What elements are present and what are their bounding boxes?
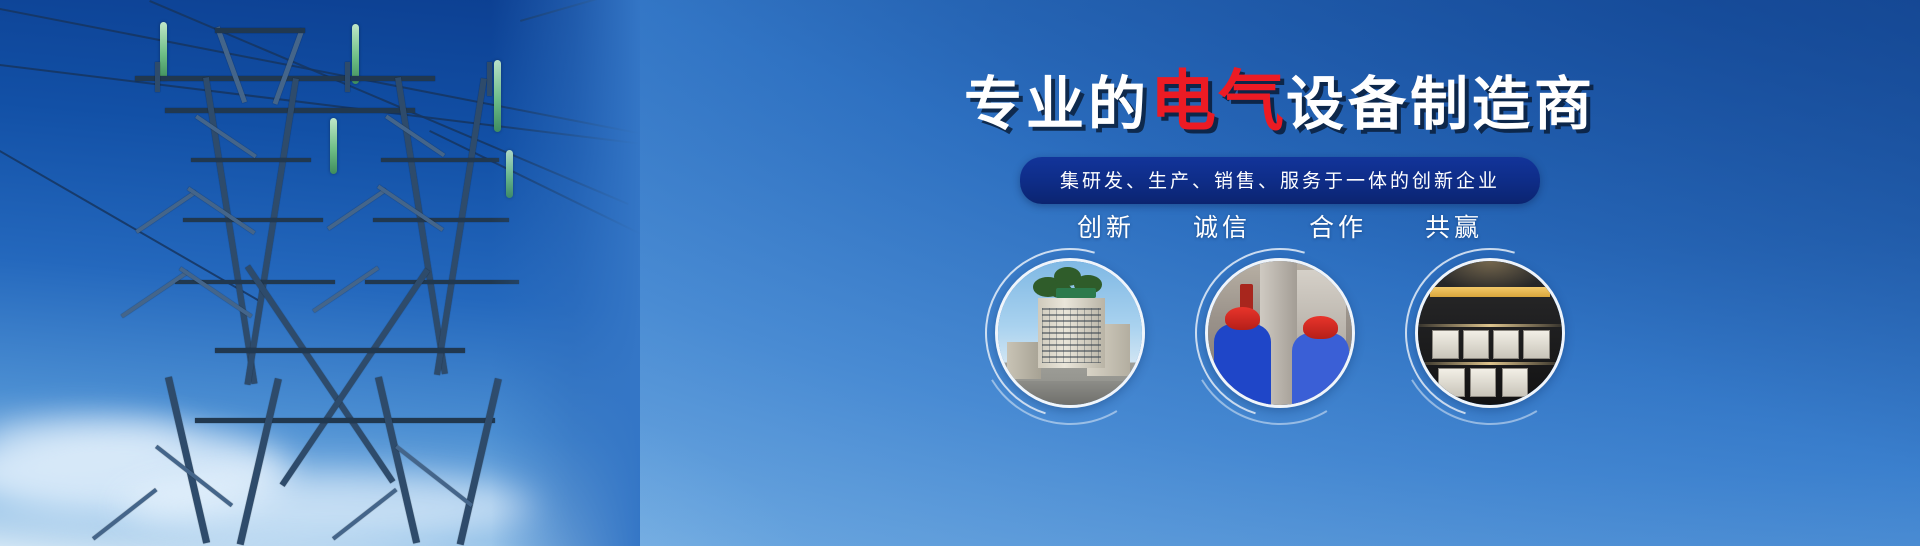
photo-circle-list (640, 258, 1920, 408)
shelf-edge (1418, 324, 1562, 327)
display-panel (1432, 330, 1458, 359)
photo-disc (1415, 258, 1565, 408)
photo-disc (995, 258, 1145, 408)
headline-part-2: 设备制造商 (1286, 72, 1596, 137)
product-display-wall-photo[interactable] (1415, 258, 1565, 408)
banner-content: 专业的电气设备制造商 集研发、生产、销售、服务于一体的创新企业 创新 诚信 合作… (640, 0, 1920, 546)
headline-part-1: 专业的 (964, 72, 1150, 137)
display-header-band (1430, 287, 1551, 297)
shelf-edge (1418, 362, 1562, 365)
display-panel (1523, 330, 1549, 359)
building-far-left (1007, 342, 1042, 379)
office-building-illustration (998, 261, 1142, 405)
insulator-string (494, 60, 501, 132)
road-surface (998, 381, 1142, 405)
subtitle-pill: 集研发、生产、销售、服务于一体的创新企业 (1020, 157, 1540, 204)
page-title: 专业的电气设备制造商 (640, 68, 1920, 134)
keyword-item: 诚信 (1193, 208, 1251, 244)
office-building-photo[interactable] (995, 258, 1145, 408)
display-panel (1493, 330, 1519, 359)
keyword-list: 创新 诚信 合作 共赢 (640, 208, 1920, 244)
worker-right (1292, 333, 1350, 405)
building-main (1038, 298, 1104, 367)
photo-disc (1205, 258, 1355, 408)
hero-banner: 专业的电气设备制造商 集研发、生产、销售、服务于一体的创新企业 创新 诚信 合作… (0, 0, 1920, 546)
display-panel (1463, 330, 1489, 359)
display-panel (1502, 368, 1528, 397)
keyword-item: 合作 (1309, 208, 1367, 244)
workers-illustration (1208, 261, 1352, 405)
workers-installation-photo[interactable] (1205, 258, 1355, 408)
keyword-item: 创新 (1077, 208, 1135, 244)
insulator-string (506, 150, 513, 198)
subtitle-pill-wrapper: 集研发、生产、销售、服务于一体的创新企业 (640, 157, 1920, 204)
keyword-item: 共赢 (1425, 208, 1483, 244)
display-wall-illustration (1418, 261, 1562, 405)
power-line (520, 0, 640, 22)
safety-helmet-icon (1303, 316, 1338, 339)
headline-highlight: 电气 (1150, 64, 1286, 138)
steel-lattice-tower (95, 18, 565, 546)
safety-helmet-icon (1225, 307, 1260, 330)
display-panel (1438, 368, 1464, 397)
display-panel (1470, 368, 1496, 397)
transmission-tower-photo (0, 0, 640, 546)
worker-left (1214, 324, 1272, 405)
rooftop-sign (1056, 288, 1096, 298)
